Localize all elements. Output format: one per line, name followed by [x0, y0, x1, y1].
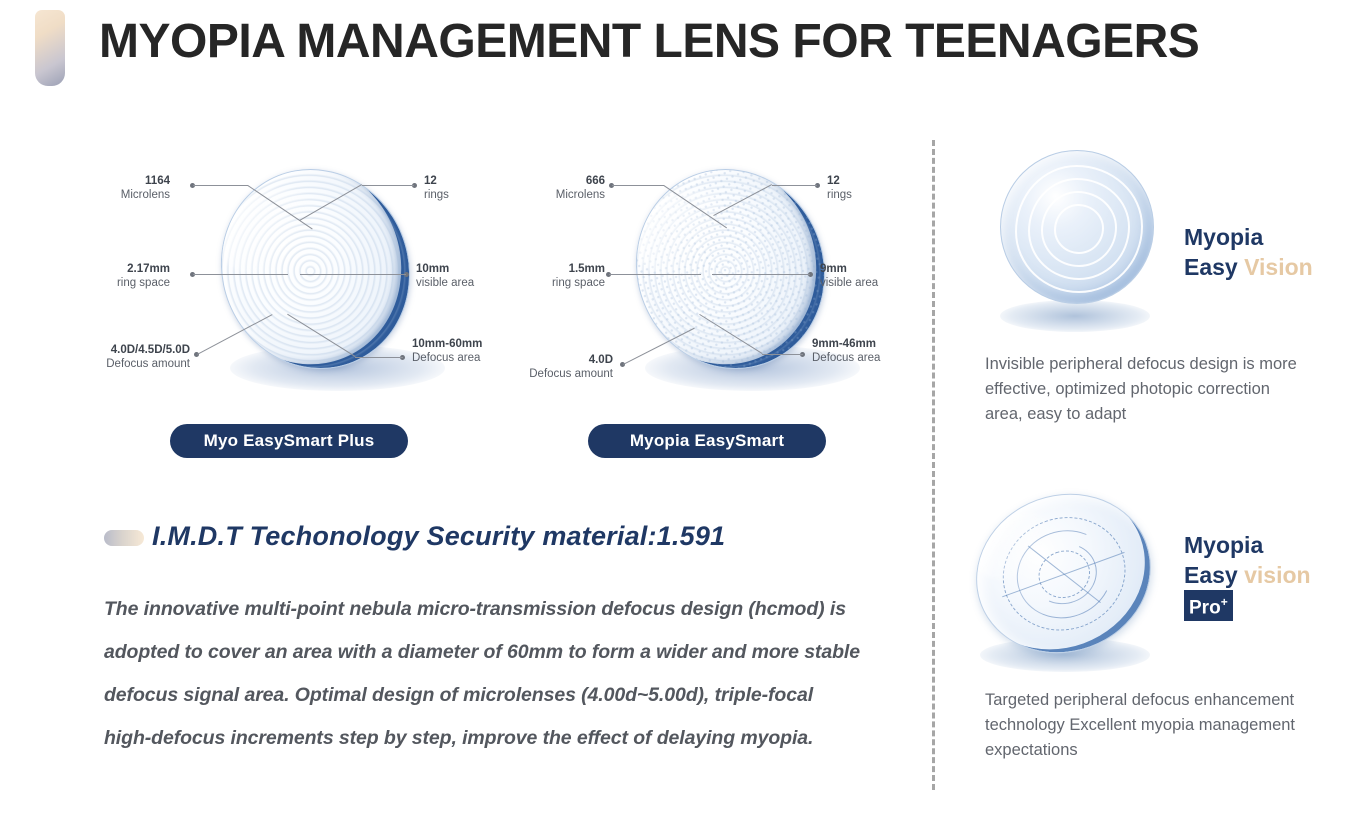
callout-left-2: 2.17mm ring space [50, 262, 170, 291]
callout-left-2: 1.5mm ring space [490, 262, 605, 291]
callout-left-1: 666 Microlens [500, 174, 605, 203]
product-badge-2[interactable]: Myopia EasySmart [588, 424, 826, 458]
page-title: MYOPIA MANAGEMENT LENS FOR TEENAGERS [99, 14, 1199, 69]
product-badge-1[interactable]: Myo EasySmart Plus [170, 424, 408, 458]
feature-description-2: Targeted peripheral defocus enhancement … [985, 688, 1305, 763]
leader-line [300, 274, 406, 275]
leader-line [612, 185, 664, 186]
brand-line-1: Myopia [1184, 530, 1311, 560]
lens-illustration-round [1000, 150, 1154, 304]
brand-line-2: Easy Vision [1184, 252, 1313, 282]
pro-badge-label: Pro [1189, 597, 1221, 618]
callout-right-1: 12 rings [424, 174, 449, 203]
callout-right-3: 9mm-46mm Defocus area [812, 337, 880, 366]
brand-block-2: Myopia Easy vision Pro+ [1184, 530, 1311, 621]
brand-line-2-navy: Easy [1184, 254, 1244, 280]
brand-line-2: Easy vision [1184, 560, 1311, 590]
lens-ring [1054, 204, 1104, 254]
brand-block-1: Myopia Easy Vision [1184, 222, 1313, 282]
leader-line [193, 274, 288, 275]
column-divider [932, 140, 935, 790]
feature-description-1: Invisible peripheral defocus design is m… [985, 352, 1305, 427]
leader-line [762, 354, 803, 355]
leader-line [609, 274, 701, 275]
brand-line-1: Myopia [1184, 222, 1313, 252]
leader-line [193, 185, 248, 186]
callout-right-2: 10mm visible area [416, 262, 474, 291]
imdt-accent-chip [104, 530, 144, 546]
callout-left-1: 1164 Microlens [60, 174, 170, 203]
leader-line [355, 357, 403, 358]
callout-left-3: 4.0D/4.5D/5.0D Defocus amount [20, 343, 190, 372]
brand-line-2-navy: Easy [1184, 562, 1244, 588]
leader-line [712, 274, 810, 275]
callout-right-1: 12 rings [827, 174, 852, 203]
imdt-heading: I.M.D.T Techonology Security material:1.… [152, 521, 725, 552]
callout-right-3: 10mm-60mm Defocus area [412, 337, 482, 366]
pro-badge: Pro+ [1184, 590, 1233, 621]
lens-shadow [1000, 300, 1150, 332]
leader-line [362, 185, 414, 186]
technology-paragraph: The innovative multi-point nebula micro-… [104, 588, 864, 760]
header-accent-bar [35, 10, 65, 86]
leader-line [772, 185, 817, 186]
page-header: MYOPIA MANAGEMENT LENS FOR TEENAGERS [0, 0, 1366, 110]
callout-right-2: 9mm visible area [820, 262, 878, 291]
brand-line-2-gold: vision [1244, 562, 1310, 588]
callout-left-3: 4.0D Defocus amount [495, 353, 613, 382]
pro-badge-sup: + [1221, 595, 1228, 609]
brand-line-3: Pro+ [1184, 590, 1311, 621]
brand-line-2-gold: Vision [1244, 254, 1313, 280]
